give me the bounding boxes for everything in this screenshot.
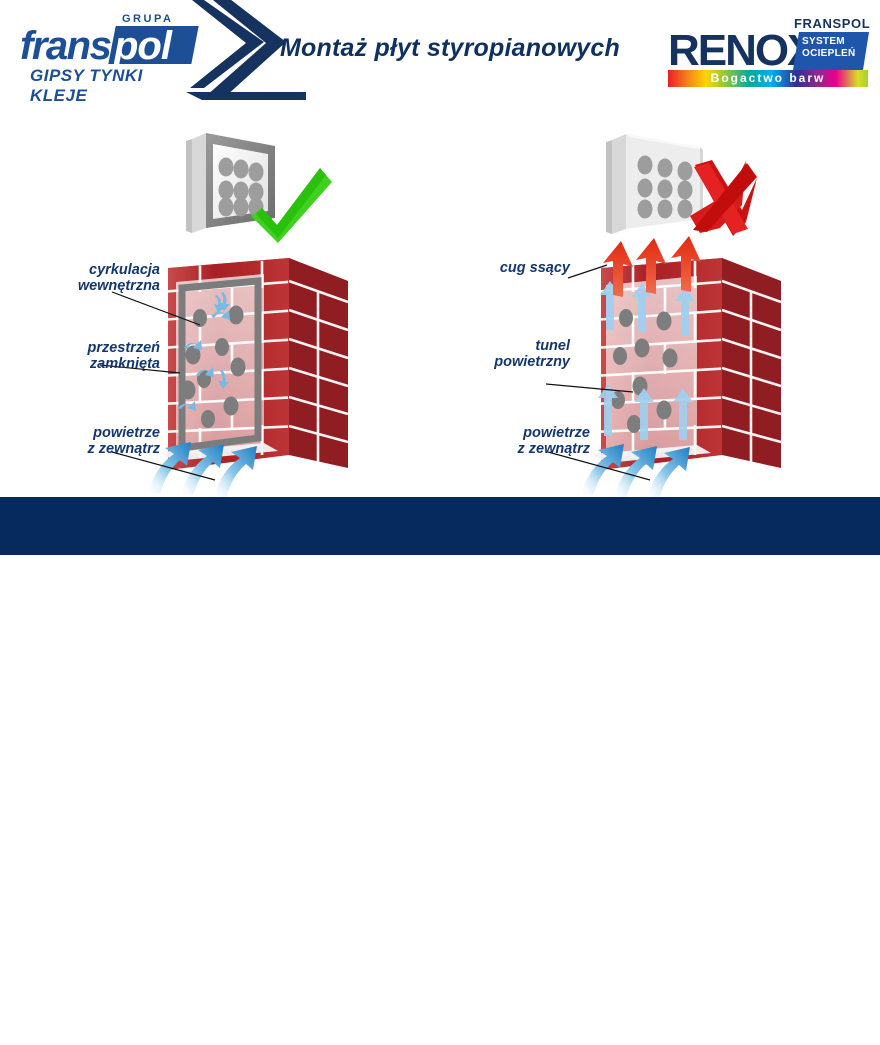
label-tunel-line2: powietrzny	[494, 354, 570, 370]
label-cug-line1: cug ssący	[500, 260, 570, 276]
footer-right-caption: niewłaściwy montaż płyt styropianowych t…	[520, 1001, 820, 1045]
red-cross-icon	[690, 160, 757, 236]
footer-bar: prawidłowy montaż płyt styropianowych me…	[0, 497, 880, 555]
label-cug-ssacy: cug ssący	[430, 260, 570, 276]
header: GRUPA frans pol GIPSY TYNKI KLEJE Montaż…	[0, 0, 880, 100]
label-tunel-powietrzny: tunel powietrzny	[440, 338, 570, 370]
footer-right-line1: niewłaściwy	[634, 1001, 706, 1015]
label-powietrze-left-line2: z zewnątrz	[87, 441, 160, 457]
label-cyrkulacja-wewnetrzna: cyrkulacja wewnętrzna	[20, 262, 160, 294]
incoming-air-arrows-left	[148, 442, 257, 498]
styrofoam-board-right	[592, 276, 711, 463]
label-cyrkulacja-line2: wewnętrzna	[78, 278, 160, 294]
franspol-pol-text: pol	[114, 24, 171, 69]
renox-system-line1: SYSTEM	[802, 36, 845, 47]
label-przestrzen-line1: przestrzeń	[87, 340, 160, 356]
footer-left-line2: montaż płyt styropianowych	[126, 1016, 294, 1030]
label-cyrkulacja-line1: cyrkulacja	[89, 262, 160, 278]
air-tunnel-arrows	[598, 281, 695, 440]
franspol-tagline: GIPSY TYNKI KLEJE	[30, 66, 194, 106]
label-przestrzen-line2: zamknięta	[90, 356, 160, 372]
label-powietrze-z-zewnatrz-right: powietrze z zewnątrz	[450, 425, 590, 457]
perimeter-adhesive-frame	[182, 281, 258, 448]
adhesive-dots-correct	[219, 158, 264, 217]
page-title: Montaż płyt styropianowych	[250, 34, 650, 63]
renox-system-line2: OCIEPLEŃ	[802, 48, 856, 59]
footer-left-line1: prawidłowy	[176, 1001, 244, 1015]
suction-draft-arrows	[603, 236, 701, 297]
brick-wall-right	[593, 258, 781, 470]
franspol-logo: GRUPA frans pol GIPSY TYNKI KLEJE	[14, 8, 194, 88]
styrofoam-board-left	[160, 274, 278, 461]
brick-wall-left	[160, 258, 348, 470]
label-powietrze-z-zewnatrz-left: powietrze z zewnątrz	[20, 425, 160, 457]
incoming-air-arrows-right	[581, 444, 690, 499]
adhesive-dots-wrong	[638, 156, 693, 219]
franspol-frans-text: frans	[20, 24, 110, 69]
label-powietrze-right-line1: powietrze	[523, 425, 590, 441]
renox-logo: RENOX FRANSPOL SYSTEM OCIEPLEŃ Bogactwo …	[668, 8, 873, 86]
renox-franspol-text: FRANSPOL	[794, 16, 870, 31]
footer-left-caption: prawidłowy montaż płyt styropianowych me…	[60, 1001, 360, 1045]
footer-left-line3: metodą obwodowo-punktową	[122, 1030, 298, 1044]
left-wall-scene	[100, 258, 348, 498]
internal-circulation-arrows	[178, 292, 230, 411]
adhesive-dots-right	[611, 309, 678, 433]
green-check-icon	[251, 168, 332, 243]
wrong-method-diagram	[606, 134, 757, 236]
footer-right-line2: montaż płyt styropianowych	[586, 1016, 754, 1030]
right-wall-scene	[546, 236, 781, 499]
adhesive-dots-left	[181, 306, 246, 429]
footer-website-link[interactable]: www.franspol.com.pl	[350, 1017, 520, 1032]
label-powietrze-right-line2: z zewnątrz	[517, 441, 590, 457]
label-tunel-line1: tunel	[535, 338, 570, 354]
footer-right-line3: tylko na "placki"	[621, 1030, 719, 1044]
correct-method-diagram	[186, 133, 332, 243]
renox-slogan: Bogactwo barw	[668, 71, 868, 85]
renox-system-text: SYSTEM OCIEPLEŃ	[802, 36, 856, 60]
infographic-root: GRUPA frans pol GIPSY TYNKI KLEJE Montaż…	[0, 0, 880, 569]
label-powietrze-left-line1: powietrze	[93, 425, 160, 441]
label-przestrzen-zamknieta: przestrzeń zamknięta	[10, 340, 160, 372]
